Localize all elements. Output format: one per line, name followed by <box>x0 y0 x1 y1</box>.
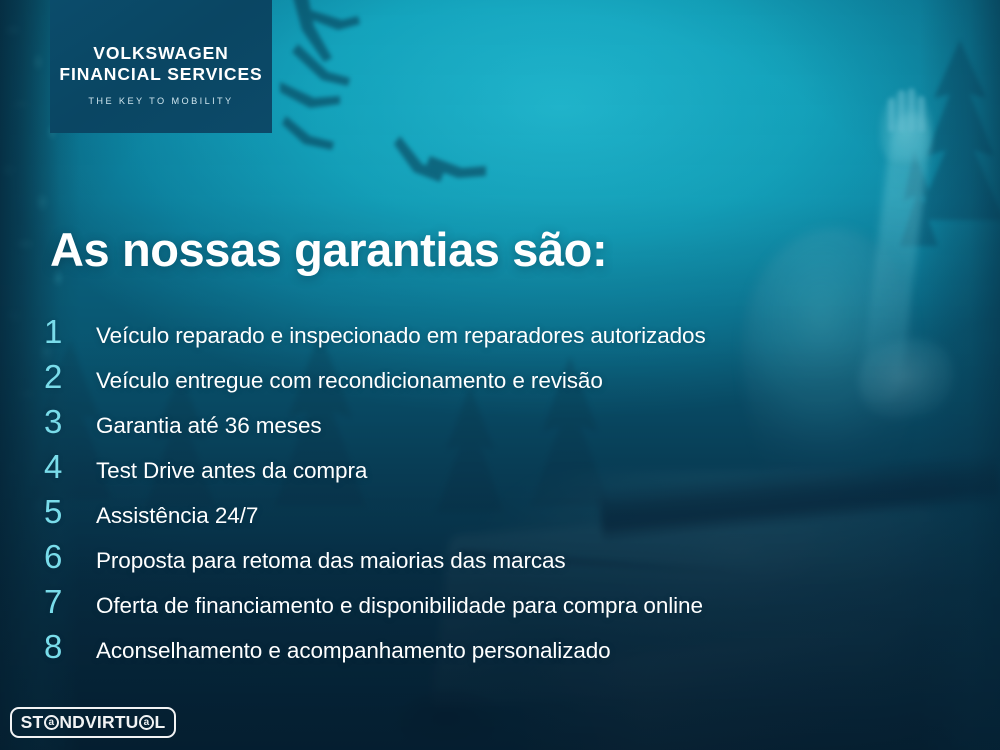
circled-a-icon <box>139 715 154 730</box>
list-item-label: Veículo reparado e inspecionado em repar… <box>96 325 706 348</box>
list-item: 8 Aconselhamento e acompanhamento person… <box>44 630 944 675</box>
list-item-number: 6 <box>44 540 96 573</box>
standvirtual-watermark-logo: ST NDVIRTU L <box>10 707 176 738</box>
list-item-number: 7 <box>44 585 96 618</box>
list-item-label: Test Drive antes da compra <box>96 460 367 483</box>
list-item: 1 Veículo reparado e inspecionado em rep… <box>44 315 944 360</box>
list-item: 5 Assistência 24/7 <box>44 495 944 540</box>
list-item-number: 3 <box>44 405 96 438</box>
list-item-label: Proposta para retoma das maiorias das ma… <box>96 550 566 573</box>
list-item-label: Garantia até 36 meses <box>96 415 322 438</box>
list-item-number: 5 <box>44 495 96 528</box>
standvirtual-text-part2: NDVIRTU <box>59 714 138 732</box>
vw-financial-services-logo: VOLKSWAGEN FINANCIAL SERVICES THE KEY TO… <box>50 0 272 133</box>
logo-tagline: THE KEY TO MOBILITY <box>88 96 233 106</box>
guarantee-list: 1 Veículo reparado e inspecionado em rep… <box>44 315 944 675</box>
list-item-number: 8 <box>44 630 96 663</box>
page-title: As nossas garantias são: <box>50 222 607 277</box>
logo-line-financial-services: FINANCIAL SERVICES <box>59 64 262 85</box>
list-item-number: 1 <box>44 315 96 348</box>
promo-slide: VOLKSWAGEN FINANCIAL SERVICES THE KEY TO… <box>0 0 1000 750</box>
list-item: 3 Garantia até 36 meses <box>44 405 944 450</box>
list-item-number: 4 <box>44 450 96 483</box>
list-item-label: Oferta de financiamento e disponibilidad… <box>96 595 703 618</box>
list-item-label: Aconselhamento e acompanhamento personal… <box>96 640 611 663</box>
circled-a-icon <box>44 715 59 730</box>
standvirtual-text-part3: L <box>155 714 166 732</box>
list-item: 6 Proposta para retoma das maiorias das … <box>44 540 944 585</box>
standvirtual-wordmark: ST NDVIRTU L <box>21 714 166 732</box>
list-item: 4 Test Drive antes da compra <box>44 450 944 495</box>
list-item: 2 Veículo entregue com recondicionamento… <box>44 360 944 405</box>
list-item-label: Assistência 24/7 <box>96 505 258 528</box>
list-item: 7 Oferta de financiamento e disponibilid… <box>44 585 944 630</box>
list-item-number: 2 <box>44 360 96 393</box>
list-item-label: Veículo entregue com recondicionamento e… <box>96 370 603 393</box>
standvirtual-text-part1: ST <box>21 714 44 732</box>
logo-line-volkswagen: VOLKSWAGEN <box>93 43 228 64</box>
